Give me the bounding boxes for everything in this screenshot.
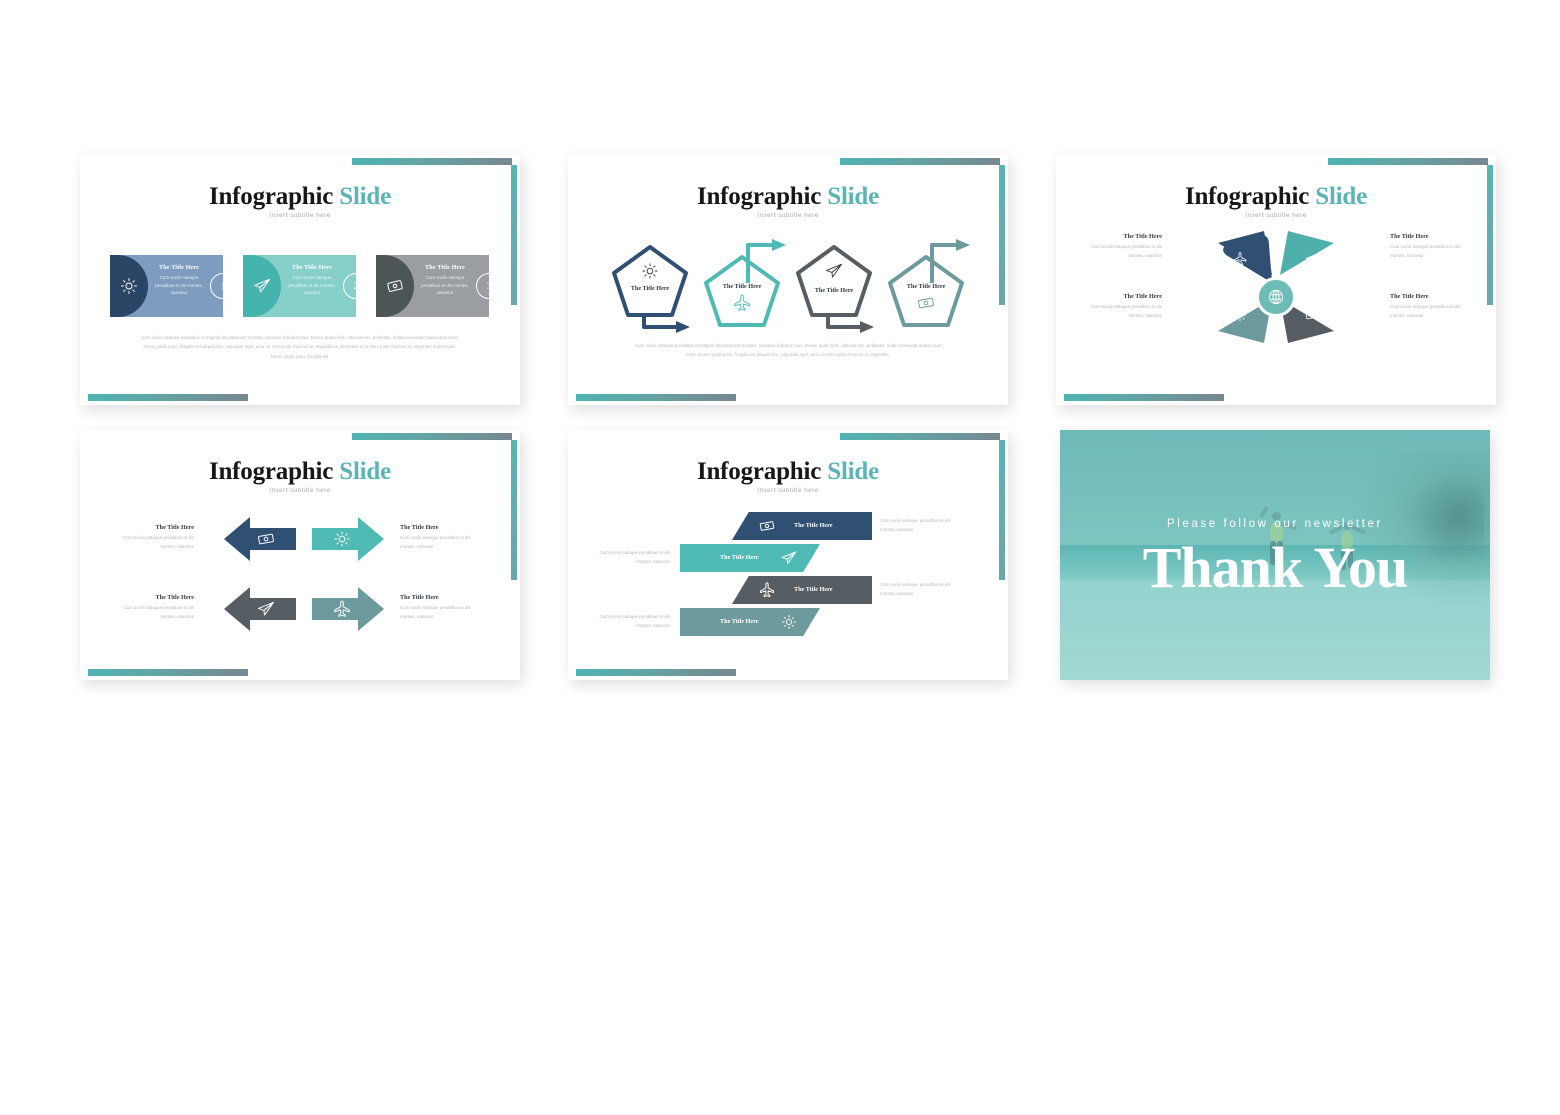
arrow-body: Cum sociis natoque penatibus et dis mont…	[110, 534, 194, 552]
plane-icon	[758, 581, 776, 599]
paper-plane-icon	[824, 261, 844, 281]
accent-bar-top	[840, 158, 1000, 165]
money-icon	[1304, 307, 1320, 323]
sun-icon	[640, 261, 660, 281]
bar-title: The Title Here	[720, 554, 759, 561]
title-accent: Slide	[827, 183, 879, 210]
page-title: Infographic Slide	[568, 458, 1008, 486]
arrow-title: The Title Here	[400, 594, 484, 601]
pentagon-item[interactable]: The Title Here	[604, 231, 696, 341]
card-number-badge: 3	[476, 273, 502, 299]
card-row: The Title Here Cum sociis natoque penati…	[110, 255, 490, 319]
newsletter-prompt: Please follow our newsletter	[1060, 518, 1490, 530]
bar-item[interactable]: The Title Here	[732, 512, 872, 540]
arrow-item[interactable]	[224, 516, 296, 562]
page-subtitle: Insert subtitle here	[80, 487, 520, 494]
money-icon	[256, 529, 276, 549]
arrow-body: Cum sociis natoque penatibus et dis mont…	[400, 534, 484, 552]
arrow-body: Cum sociis natoque penatibus et dis mont…	[110, 604, 194, 622]
petal-group	[1208, 227, 1344, 347]
arrow-title: The Title Here	[400, 524, 484, 531]
pentagon-title: The Title Here	[604, 285, 696, 292]
arrow-body: Cum sociis natoque penatibus et dis mont…	[400, 604, 484, 622]
card-body-text: Cum sociis natoque penatibus et dis mont…	[150, 274, 208, 297]
plane-icon	[332, 599, 352, 619]
petal-body: Cum sociis natoque penatibus et dis mont…	[1390, 303, 1474, 321]
page-title: Infographic Slide	[80, 458, 520, 486]
accent-bar-top	[352, 433, 512, 440]
title-accent: Slide	[339, 458, 391, 485]
bar-label: Cum sociis natoque penatibus et dis mont…	[586, 549, 670, 567]
accent-bar-bottom	[88, 394, 248, 401]
accent-bar-top	[840, 433, 1000, 440]
slide-deck-overview: Infographic Slide Insert subtitle here T…	[0, 0, 1560, 1115]
petal-label: The Title Here Cum sociis natoque penati…	[1390, 293, 1474, 321]
arrow-label: The Title Here Cum sociis natoque penati…	[110, 594, 194, 622]
card-number-badge: 2	[343, 273, 369, 299]
footer-paragraph: Cum sociis natoque penatibus et magnis d…	[140, 333, 460, 361]
sun-icon	[1232, 307, 1248, 323]
arrow-item[interactable]	[224, 586, 296, 632]
card-title: The Title Here	[283, 264, 341, 271]
card-text: The Title Here Cum sociis natoque penati…	[283, 264, 341, 297]
arrow-label: The Title Here Cum sociis natoque penati…	[400, 594, 484, 622]
accent-bar-top	[1328, 158, 1488, 165]
card-text: The Title Here Cum sociis natoque penati…	[416, 264, 474, 297]
accent-bar-bottom	[576, 394, 736, 401]
pentagon-title: The Title Here	[788, 287, 880, 294]
card-item[interactable]: The Title Here Cum sociis natoque penati…	[243, 255, 356, 317]
card-item[interactable]: The Title Here Cum sociis natoque penati…	[110, 255, 223, 317]
bar-label: Cum sociis natoque penatibus et dis mont…	[880, 581, 964, 599]
petal-body: Cum sociis natoque penatibus et dis mont…	[1078, 303, 1162, 321]
paper-plane-icon	[780, 549, 798, 567]
paper-plane-icon	[256, 599, 276, 619]
pentagon-item[interactable]: The Title Here	[696, 231, 788, 341]
page-subtitle: Insert subtitle here	[568, 487, 1008, 494]
paper-plane-icon	[1304, 251, 1320, 267]
pentagon-title: The Title Here	[880, 283, 972, 290]
bar-item[interactable]: The Title Here	[680, 544, 820, 572]
petal-title: The Title Here	[1390, 293, 1474, 300]
card-number-badge: 1	[210, 273, 236, 299]
pentagon-item[interactable]: The Title Here	[788, 231, 880, 341]
title-main: Infographic	[209, 183, 333, 210]
bar-item[interactable]: The Title Here	[732, 576, 872, 604]
petal-title: The Title Here	[1078, 293, 1162, 300]
accent-bar-bottom	[1064, 394, 1224, 401]
footer-paragraph: Cum sociis natoque penatibus et magnis d…	[630, 341, 946, 360]
accent-bar-top	[352, 158, 512, 165]
petal-title: The Title Here	[1390, 233, 1474, 240]
slide-1-cards[interactable]: Infographic Slide Insert subtitle here T…	[80, 155, 520, 405]
bar-stack: The Title Here Cum sociis natoque penati…	[568, 512, 1008, 642]
page-title: Infographic Slide	[1056, 183, 1496, 211]
petal-body: Cum sociis natoque penatibus et dis mont…	[1078, 243, 1162, 261]
slide-2-pentagons[interactable]: Infographic Slide Insert subtitle here T…	[568, 155, 1008, 405]
pentagon-row: The Title Here The Title Here	[604, 231, 972, 341]
petal-label: The Title Here Cum sociis natoque penati…	[1078, 293, 1162, 321]
money-icon	[916, 293, 936, 313]
arrow-title: The Title Here	[110, 594, 194, 601]
card-body-text: Cum sociis natoque penatibus et dis mont…	[283, 274, 341, 297]
petal-body: Cum sociis natoque penatibus et dis mont…	[1390, 243, 1474, 261]
page-title: Infographic Slide	[568, 183, 1008, 211]
slide-5-bars[interactable]: Infographic Slide Insert subtitle here T…	[568, 430, 1008, 680]
sun-icon	[119, 276, 139, 296]
tag-icon	[385, 276, 405, 296]
title-accent: Slide	[1315, 183, 1367, 210]
plane-icon	[1232, 251, 1248, 267]
card-title: The Title Here	[150, 264, 208, 271]
title-accent: Slide	[827, 458, 879, 485]
arrow-grid: The Title Here Cum sociis natoque penati…	[80, 516, 520, 642]
petal-title: The Title Here	[1078, 233, 1162, 240]
card-body-text: Cum sociis natoque penatibus et dis mont…	[416, 274, 474, 297]
accent-bar-bottom	[88, 669, 248, 676]
bar-item[interactable]: The Title Here	[680, 608, 820, 636]
bar-title: The Title Here	[794, 522, 833, 529]
sun-icon	[780, 613, 798, 631]
pentagon-item[interactable]: The Title Here	[880, 231, 972, 341]
sun-icon	[332, 529, 352, 549]
card-title: The Title Here	[416, 264, 474, 271]
arrow-label: The Title Here Cum sociis natoque penati…	[400, 524, 484, 552]
bar-title: The Title Here	[794, 586, 833, 593]
arrow-title: The Title Here	[110, 524, 194, 531]
card-text: The Title Here Cum sociis natoque penati…	[150, 264, 208, 297]
paper-plane-icon	[252, 276, 272, 296]
arrow-item[interactable]	[312, 586, 384, 632]
petal-label: The Title Here Cum sociis natoque penati…	[1390, 233, 1474, 261]
bar-label: Cum sociis natoque penatibus et dis mont…	[880, 517, 964, 535]
slide-3-radial[interactable]: Infographic Slide Insert subtitle here	[1056, 155, 1496, 405]
radial-diagram: The Title Here Cum sociis natoque penati…	[1056, 227, 1496, 347]
arrow-item[interactable]	[312, 516, 384, 562]
thank-you-slide[interactable]: Please follow our newsletter Thank You	[1060, 430, 1490, 680]
title-accent: Slide	[339, 183, 391, 210]
title-main: Infographic	[697, 458, 821, 485]
page-subtitle: Insert subtitle here	[1056, 212, 1496, 219]
bar-title: The Title Here	[720, 618, 759, 625]
petal-label: The Title Here Cum sociis natoque penati…	[1078, 233, 1162, 261]
pentagon-title: The Title Here	[696, 283, 788, 290]
plane-icon	[732, 293, 752, 313]
bar-label: Cum sociis natoque penatibus et dis mont…	[586, 613, 670, 631]
globe-icon	[1256, 277, 1296, 317]
page-subtitle: Insert subtitle here	[80, 212, 520, 219]
title-main: Infographic	[209, 458, 333, 485]
slide-4-arrows[interactable]: Infographic Slide Insert subtitle here T…	[80, 430, 520, 680]
page-subtitle: Insert subtitle here	[568, 212, 1008, 219]
title-main: Infographic	[697, 183, 821, 210]
card-item[interactable]: The Title Here Cum sociis natoque penati…	[376, 255, 489, 317]
arrow-label: The Title Here Cum sociis natoque penati…	[110, 524, 194, 552]
accent-bar-bottom	[576, 669, 736, 676]
thank-you-title: Thank You	[1060, 534, 1490, 601]
page-title: Infographic Slide	[80, 183, 520, 211]
money-icon	[758, 517, 776, 535]
title-main: Infographic	[1185, 183, 1309, 210]
